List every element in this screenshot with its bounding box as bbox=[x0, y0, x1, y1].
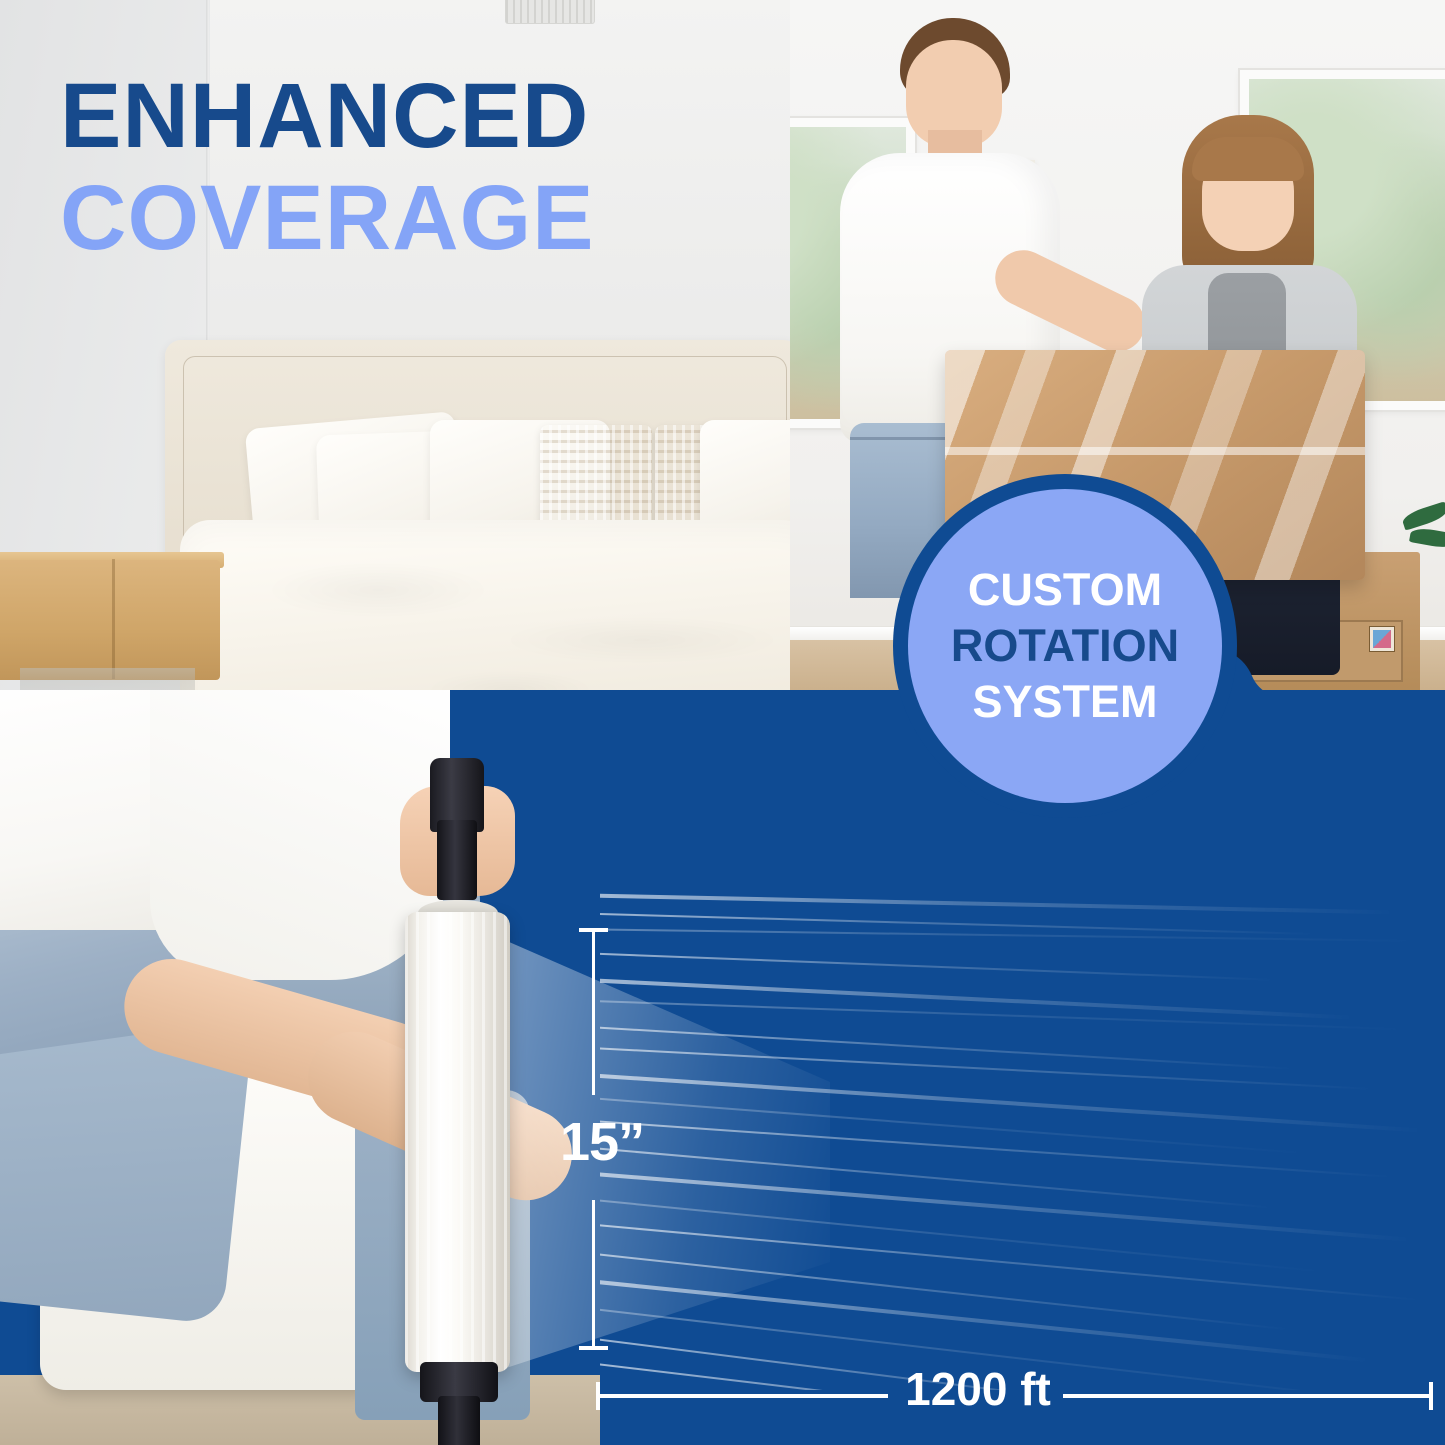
dispenser-handle-stem bbox=[437, 820, 477, 900]
width-dimension-label: 1200 ft bbox=[888, 1366, 1068, 1412]
bottom-blue-panel: 15” 1200 ft bbox=[0, 690, 1445, 1445]
nightstand bbox=[0, 560, 220, 680]
stretch-film-roll bbox=[405, 912, 510, 1372]
bangs bbox=[1192, 137, 1304, 181]
width-dimension-line-right bbox=[1063, 1394, 1433, 1398]
height-dimension-cap-bottom bbox=[579, 1346, 608, 1350]
headline-line-1: ENHANCED bbox=[60, 72, 760, 160]
duvet bbox=[180, 520, 830, 700]
dispenser-base-stem bbox=[438, 1396, 480, 1445]
width-dimension-cap-right bbox=[1429, 1382, 1433, 1410]
product-infographic-canvas: PACKAGING bbox=[0, 0, 1445, 1445]
width-dimension-cap-left bbox=[596, 1382, 600, 1410]
ceiling-vent-icon bbox=[505, 0, 595, 24]
width-dimension-line-left bbox=[598, 1394, 888, 1398]
height-dimension-label: 15” bbox=[560, 1115, 670, 1169]
badge-line-3: SYSTEM bbox=[972, 674, 1157, 730]
badge-line-1: CUSTOM bbox=[968, 562, 1162, 618]
headline-line-2: COVERAGE bbox=[60, 174, 760, 262]
badge-line-2: ROTATION bbox=[951, 618, 1179, 674]
headline: ENHANCED COVERAGE bbox=[60, 72, 760, 263]
height-dimension-line-upper bbox=[592, 930, 595, 1095]
fragile-icon bbox=[1369, 626, 1395, 652]
custom-rotation-system-badge: CUSTOM ROTATION SYSTEM bbox=[908, 489, 1222, 803]
height-dimension-line-lower bbox=[592, 1200, 595, 1350]
height-dimension-cap-top bbox=[579, 928, 608, 932]
